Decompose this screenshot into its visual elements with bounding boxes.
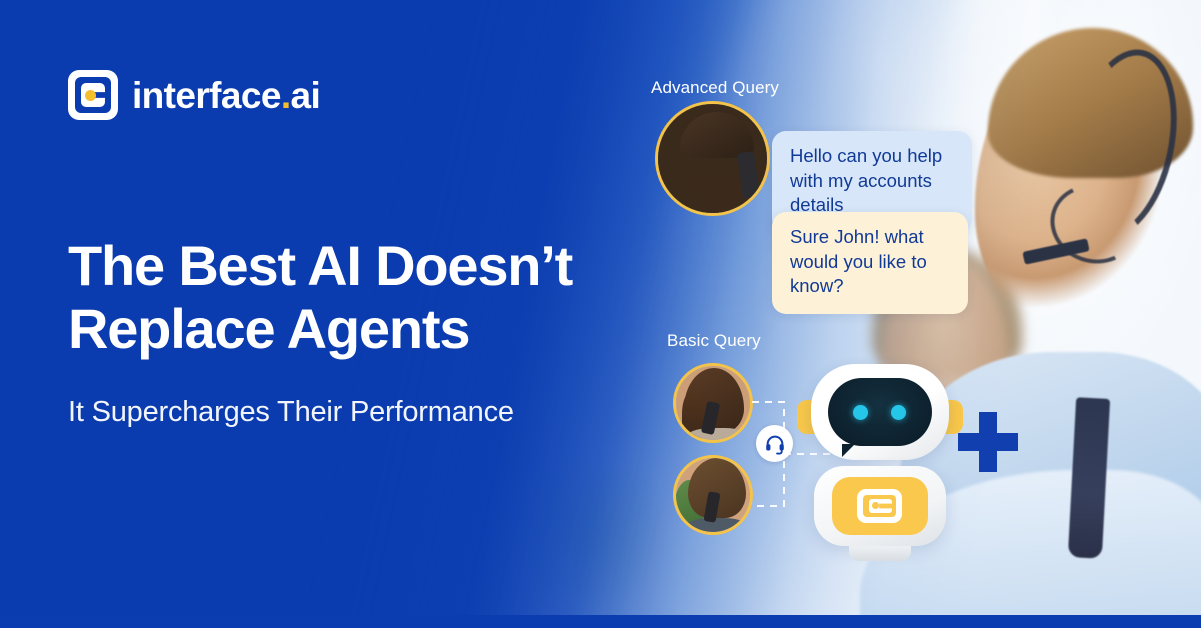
robot-eye-left: [853, 405, 868, 420]
robot-badge-dot: [872, 502, 879, 509]
page-subtitle: It Supercharges Their Performance: [68, 396, 514, 429]
page-title: The Best AI Doesn’t Replace Agents: [68, 234, 688, 361]
robot-face-screen: [828, 378, 932, 446]
plus-icon: [958, 412, 1018, 472]
basic-query-label: Basic Query: [667, 331, 761, 351]
avatar: [655, 101, 770, 216]
headset-icon: [756, 425, 793, 462]
brand-logo[interactable]: interface.ai: [68, 70, 320, 120]
robot-logo-badge-icon: [857, 489, 902, 523]
brand-name-dot: .: [281, 75, 291, 116]
chat-bubble-agent: Sure John! what would you like to know?: [772, 212, 968, 314]
brand-name-suffix: ai: [291, 75, 321, 116]
marketing-banner: interface.ai The Best AI Doesn’t Replace…: [0, 0, 1201, 628]
brand-name-main: interface: [132, 75, 281, 116]
advanced-query-label: Advanced Query: [651, 78, 779, 98]
robot-base: [849, 546, 911, 561]
brand-wordmark: interface.ai: [132, 77, 320, 114]
avatar: [673, 363, 753, 443]
interface-logo-mark-icon: [68, 70, 118, 120]
bottom-accent-bar: [0, 615, 1201, 628]
logo-dot-accent: [85, 90, 96, 101]
headline-line-2: Replace Agents: [68, 297, 688, 360]
robot-eye-right: [891, 405, 906, 420]
headline-line-1: The Best AI Doesn’t: [68, 234, 688, 297]
ai-assistant-robot: [795, 358, 965, 553]
avatar: [673, 455, 753, 535]
headset-glyph: [764, 433, 786, 455]
